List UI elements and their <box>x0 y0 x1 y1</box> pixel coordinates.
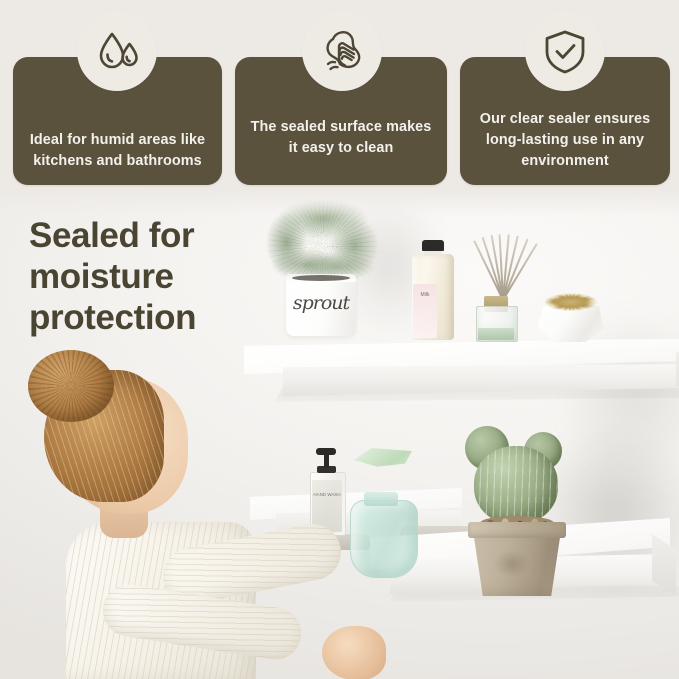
glass-spray-bottle <box>336 448 442 584</box>
hair-bun <box>28 350 114 422</box>
hand-wiping-cloth-icon <box>315 24 369 78</box>
water-drops-icon <box>91 25 143 77</box>
gold-succulent <box>534 286 606 342</box>
pot-script-text: sprout <box>288 294 354 313</box>
white-ceramic-pot: sprout <box>286 274 356 336</box>
feature-card-text: Ideal for humid areas like kitchens and … <box>13 130 222 185</box>
spray-bottle-collar <box>364 492 398 506</box>
product-infographic: sprout Milk <box>0 0 679 679</box>
photo-top-fade <box>0 190 679 216</box>
pot-weathering <box>494 550 530 578</box>
feature-badge-easy-clean <box>302 11 382 91</box>
bottle-cap <box>422 240 444 251</box>
cactus-in-terracotta-pot <box>460 424 580 600</box>
spray-bottle-glass <box>350 500 418 578</box>
feature-badge-humidity <box>77 11 157 91</box>
feature-card-strip: Ideal for humid areas like kitchens and … <box>0 0 679 190</box>
shield-check-icon <box>539 25 591 77</box>
succulent-rosette <box>542 286 600 312</box>
amber-glass-bottle: Milk <box>412 240 454 340</box>
pot-soil <box>292 275 350 281</box>
girl-with-hair-bun <box>0 350 362 679</box>
feature-badge-clear-sealer <box>525 11 605 91</box>
terracotta-pot-rim <box>468 522 566 538</box>
page-title: Sealed for moisture protection <box>29 215 279 338</box>
spray-bottle-nozzle <box>354 448 412 478</box>
feature-card-text: The sealed surface makes it easy to clea… <box>235 117 447 185</box>
cactus-ribs <box>474 446 558 524</box>
bottle-label-text: Milk <box>414 292 436 299</box>
girl-upper-hand <box>322 626 386 679</box>
feature-card-text: Our clear sealer ensures long-lasting us… <box>460 109 670 185</box>
diffuser-liquid <box>478 328 514 340</box>
